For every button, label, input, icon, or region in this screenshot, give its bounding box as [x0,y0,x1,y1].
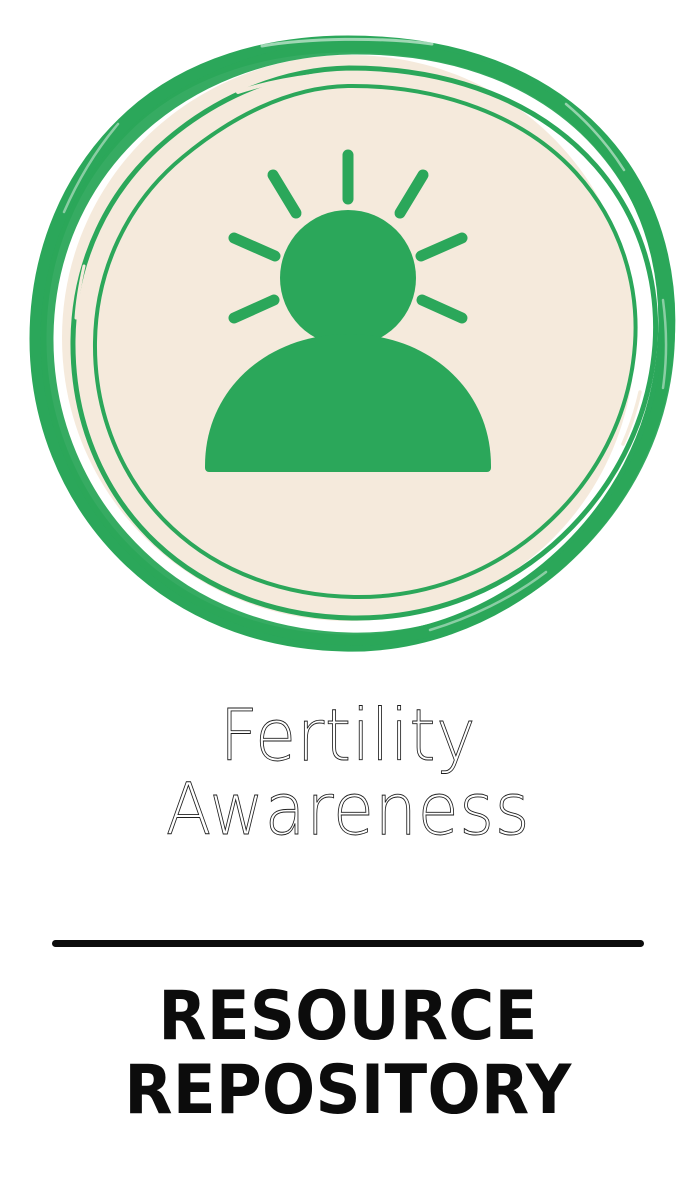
logo-card: Fertility Awareness RESOURCE REPOSITORY [0,0,696,1186]
emblem-svg [0,0,696,676]
subtitle-line-1: RESOURCE [28,983,668,1051]
head-circle [280,210,416,346]
subtitle-line-2: REPOSITORY [28,1057,668,1125]
title-line-2: Awareness [21,774,675,846]
title-line-1: Fertility [21,700,675,772]
title-block: Fertility Awareness [0,700,696,847]
emblem [0,0,696,676]
subtitle-block: RESOURCE REPOSITORY [0,983,696,1125]
divider-rule [52,940,644,947]
